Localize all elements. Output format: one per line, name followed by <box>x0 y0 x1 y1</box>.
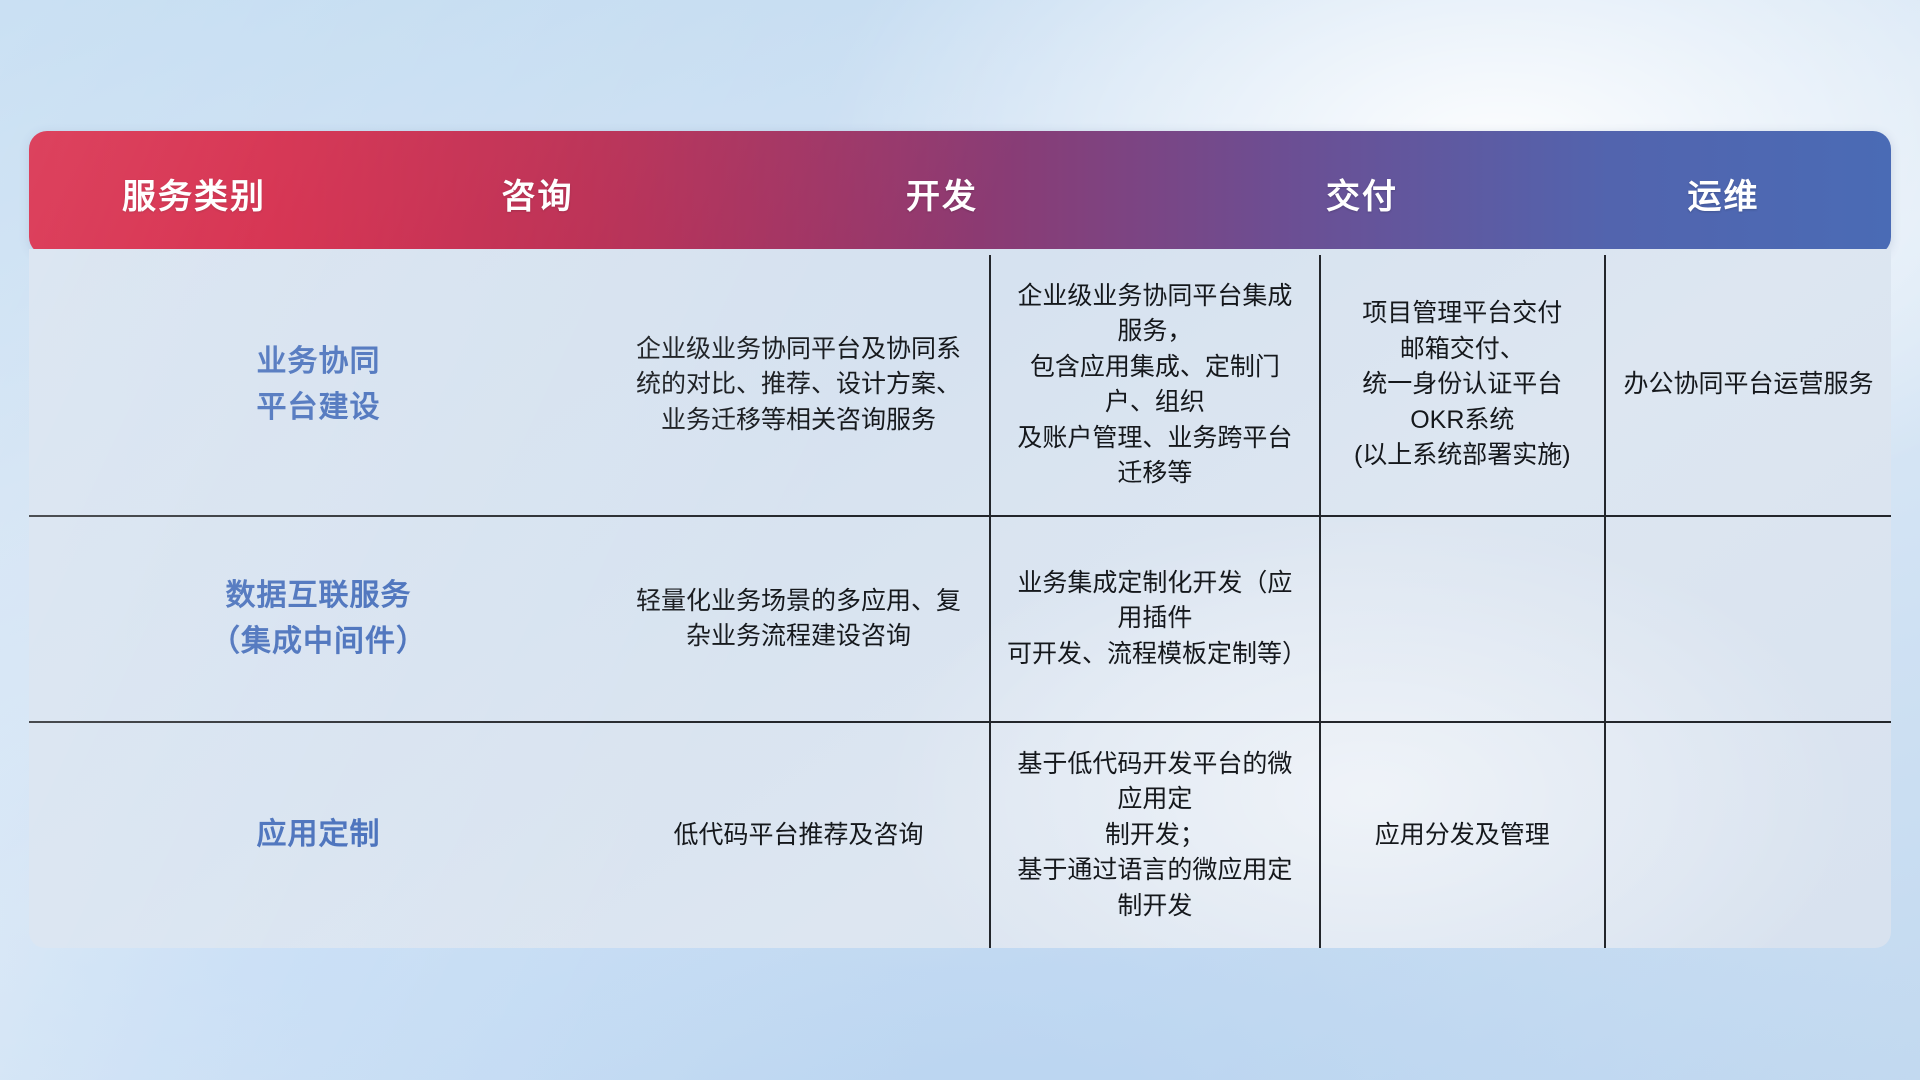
table-header-row: 服务类别 咨询 开发 交付 运维 <box>29 131 1891 255</box>
column-header-operations: 运维 <box>1556 131 1891 255</box>
cell-development: 基于低代码开发平台的微应用定 制开发； 基于通过语言的微应用定制开发 <box>991 723 1321 948</box>
column-header-development: 开发 <box>716 131 1168 255</box>
table-body: 业务协同 平台建设 企业级业务协同平台及协同系 统的对比、推荐、设计方案、 业务… <box>29 249 1891 948</box>
cell-development: 企业级业务协同平台集成服务， 包含应用集成、定制门户、组织 及账户管理、业务跨平… <box>991 255 1321 515</box>
cell-consulting: 轻量化业务场景的多应用、复 杂业务流程建设咨询 <box>608 517 991 721</box>
cell-delivery <box>1321 517 1606 721</box>
table-row: 数据互联服务 （集成中间件） 轻量化业务场景的多应用、复 杂业务流程建设咨询 业… <box>29 515 1891 721</box>
table-row: 应用定制 低代码平台推荐及咨询 基于低代码开发平台的微应用定 制开发； 基于通过… <box>29 721 1891 948</box>
column-header-service-category: 服务类别 <box>29 131 359 255</box>
cell-consulting: 低代码平台推荐及咨询 <box>608 723 991 948</box>
cell-category: 业务协同 平台建设 <box>29 255 608 515</box>
column-header-consulting: 咨询 <box>359 131 716 255</box>
cell-category: 应用定制 <box>29 723 608 948</box>
cell-development: 业务集成定制化开发（应用插件 可开发、流程模板定制等） <box>991 517 1321 721</box>
column-header-delivery: 交付 <box>1168 131 1556 255</box>
service-matrix-table: 服务类别 咨询 开发 交付 运维 业务协同 平台建设 企业级业务协同平台及协同系… <box>29 131 1891 948</box>
cell-delivery: 应用分发及管理 <box>1321 723 1606 948</box>
cell-operations <box>1606 517 1891 721</box>
cell-category: 数据互联服务 （集成中间件） <box>29 517 608 721</box>
table-row: 业务协同 平台建设 企业级业务协同平台及协同系 统的对比、推荐、设计方案、 业务… <box>29 255 1891 515</box>
cell-operations: 办公协同平台运营服务 <box>1606 255 1891 515</box>
cell-operations <box>1606 723 1891 948</box>
slide-canvas: 服务类别 咨询 开发 交付 运维 业务协同 平台建设 企业级业务协同平台及协同系… <box>0 0 1920 1080</box>
cell-consulting: 企业级业务协同平台及协同系 统的对比、推荐、设计方案、 业务迁移等相关咨询服务 <box>608 255 991 515</box>
cell-delivery: 项目管理平台交付 邮箱交付、 统一身份认证平台 OKR系统 (以上系统部署实施) <box>1321 255 1606 515</box>
